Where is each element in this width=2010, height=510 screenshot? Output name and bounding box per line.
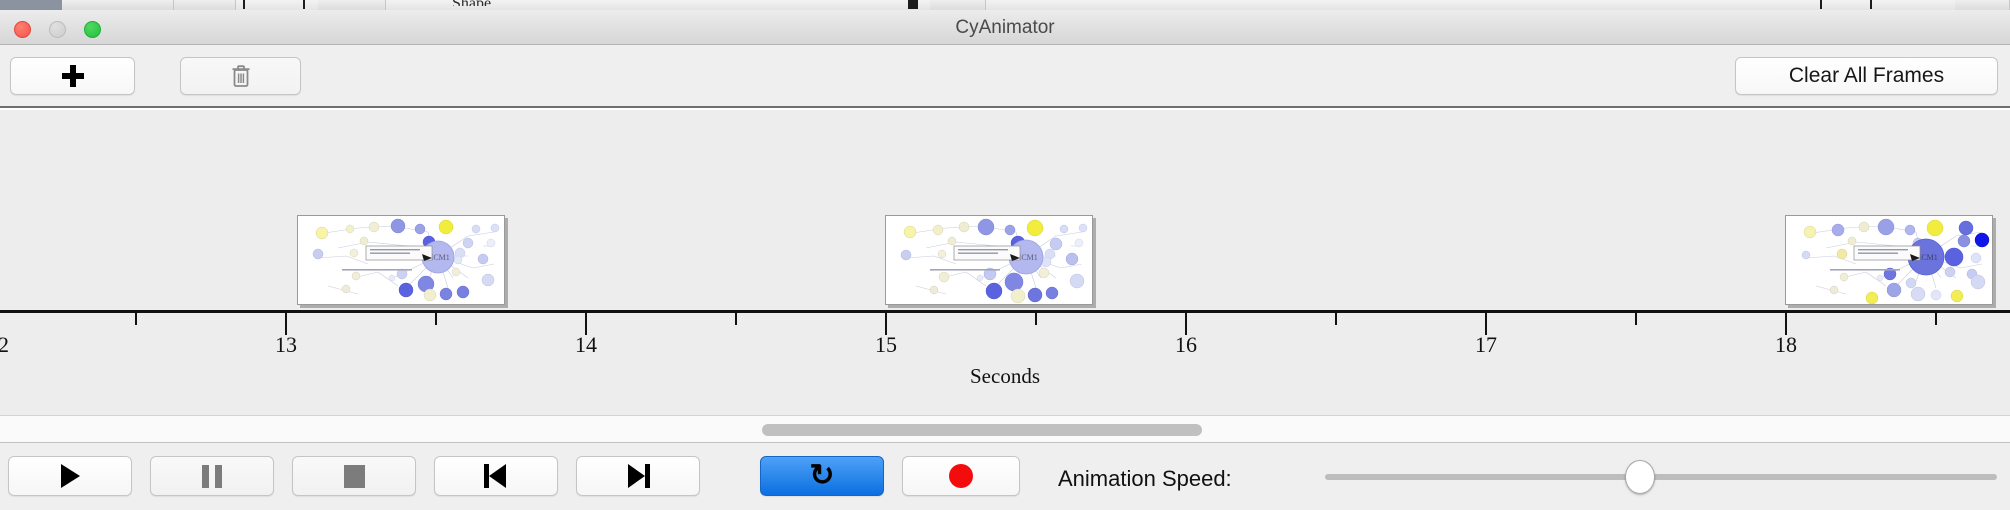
axis-tick-minor xyxy=(1035,313,1037,325)
timeline-axis-line xyxy=(0,310,2010,313)
timeline-frame-thumbnail[interactable]: MCM1 xyxy=(1785,215,1993,305)
background-window-segment xyxy=(930,0,986,10)
animation-speed-slider[interactable] xyxy=(1325,474,1997,480)
background-window-segment xyxy=(1955,0,2010,10)
background-window-titlebar xyxy=(0,0,62,10)
background-window-mark xyxy=(908,0,918,9)
background-window-segment xyxy=(318,0,386,10)
network-graph-preview: MCM1 xyxy=(298,216,504,304)
playback-controls: ↻ Animation Speed: xyxy=(0,443,2010,510)
skip-next-button[interactable] xyxy=(576,456,700,496)
record-icon xyxy=(949,464,973,488)
background-window-segment xyxy=(174,0,236,10)
skip-next-icon xyxy=(626,464,650,488)
slider-track[interactable] xyxy=(1325,474,1997,480)
axis-tick-minor xyxy=(435,313,437,325)
axis-tick-label: 15 xyxy=(875,332,897,358)
axis-tick-label: 12 xyxy=(0,332,9,358)
timeline-scrollbar[interactable] xyxy=(0,415,2010,443)
clear-all-frames-button[interactable]: Clear All Frames xyxy=(1735,57,1998,95)
play-icon xyxy=(61,464,80,488)
axis-tick-label: 18 xyxy=(1775,332,1797,358)
network-graph-preview: MCM1 xyxy=(1786,216,1992,304)
axis-tick-label: 14 xyxy=(575,332,597,358)
animation-speed-label: Animation Speed: xyxy=(1058,466,1232,492)
toolbar: Clear All Frames xyxy=(0,45,2010,108)
background-window-mark xyxy=(243,0,245,9)
cyanimator-window: Shape CyAnimator Clear All Frames xyxy=(0,0,2010,510)
plus-icon xyxy=(62,65,84,87)
background-window-strip: Shape xyxy=(0,0,2010,10)
timeline-frame-thumbnail[interactable]: MCM1 xyxy=(297,215,505,305)
window-title: CyAnimator xyxy=(0,17,2010,39)
titlebar: CyAnimator xyxy=(0,10,2010,45)
add-frame-button[interactable] xyxy=(10,57,135,95)
background-window-label: Shape xyxy=(452,0,491,6)
axis-tick-label: 13 xyxy=(275,332,297,358)
pause-button[interactable] xyxy=(150,456,274,496)
axis-title: Seconds xyxy=(0,364,2010,389)
background-window-mark xyxy=(1820,0,1822,9)
delete-frame-button[interactable] xyxy=(180,57,301,95)
axis-tick-label: 17 xyxy=(1475,332,1497,358)
trash-icon xyxy=(230,64,252,88)
stop-icon xyxy=(344,465,365,488)
axis-tick-minor xyxy=(1935,313,1937,325)
timeline-frame-thumbnail[interactable]: MCM1 xyxy=(885,215,1093,305)
stop-button[interactable] xyxy=(292,456,416,496)
axis-tick-minor xyxy=(735,313,737,325)
background-window-mark xyxy=(1870,0,1872,9)
loop-icon: ↻ xyxy=(809,461,834,491)
axis-tick-minor xyxy=(1335,313,1337,325)
network-graph-preview: MCM1 xyxy=(886,216,1092,304)
timeline-panel[interactable]: MCM1 xyxy=(0,110,2010,415)
play-button[interactable] xyxy=(8,456,132,496)
scrollbar-thumb[interactable] xyxy=(762,424,1202,436)
skip-previous-icon xyxy=(484,464,508,488)
background-window-segment xyxy=(62,0,174,10)
loop-button[interactable]: ↻ xyxy=(760,456,884,496)
record-button[interactable] xyxy=(902,456,1020,496)
axis-tick-minor xyxy=(135,313,137,325)
slider-thumb[interactable] xyxy=(1625,460,1655,494)
axis-tick-label: 16 xyxy=(1175,332,1197,358)
background-window-mark xyxy=(303,0,305,9)
skip-previous-button[interactable] xyxy=(434,456,558,496)
axis-tick-minor xyxy=(1635,313,1637,325)
pause-icon xyxy=(202,465,222,488)
